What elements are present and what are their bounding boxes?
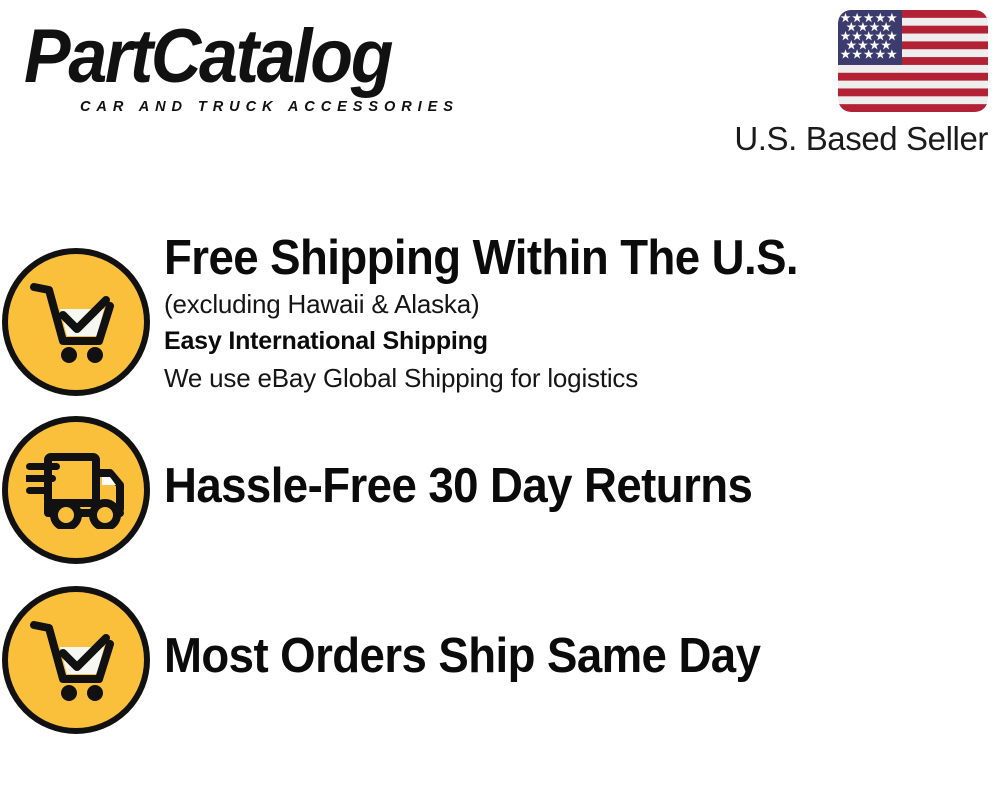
badge-circle-free-shipping xyxy=(2,248,150,396)
feature-row: Hassle-Free 30 Day Returns xyxy=(0,416,1000,564)
feature-icon-wrap xyxy=(0,416,152,564)
page-header: PartCatalog CAR AND TRUCK ACCESSORIES xyxy=(0,0,1000,170)
brand-tagline: CAR AND TRUCK ACCESSORIES xyxy=(80,98,459,115)
feature-row: Most Orders Ship Same Day xyxy=(0,586,1000,734)
feature-sub-bold: Easy International Shipping xyxy=(164,322,1000,360)
badge-circle-returns xyxy=(2,416,150,564)
feature-text: Free Shipping Within The U.S. (excluding… xyxy=(152,230,1000,396)
feature-sub-detail: We use eBay Global Shipping for logistic… xyxy=(164,360,1000,396)
feature-text: Most Orders Ship Same Day xyxy=(152,586,1000,684)
shopping-cart-check-icon xyxy=(30,279,122,365)
feature-row: Free Shipping Within The U.S. (excluding… xyxy=(0,230,1000,396)
feature-headline: Free Shipping Within The U.S. xyxy=(164,230,941,286)
feature-list: Free Shipping Within The U.S. (excluding… xyxy=(0,230,1000,734)
badge-circle-same-day xyxy=(2,586,150,734)
delivery-truck-icon xyxy=(26,451,126,529)
brand-wordmark: PartCatalog xyxy=(24,18,456,96)
feature-text: Hassle-Free 30 Day Returns xyxy=(152,416,1000,514)
feature-icon-wrap xyxy=(0,230,152,396)
shopping-cart-check-icon xyxy=(30,617,122,703)
feature-headline: Most Orders Ship Same Day xyxy=(164,628,941,684)
us-flag-icon xyxy=(838,10,988,112)
feature-icon-wrap xyxy=(0,586,152,734)
feature-headline: Hassle-Free 30 Day Returns xyxy=(164,458,941,514)
brand-logo[interactable]: PartCatalog CAR AND TRUCK ACCESSORIES xyxy=(24,18,494,113)
feature-subline: (excluding Hawaii & Alaska) xyxy=(164,286,1000,322)
us-based-seller-badge: U.S. Based Seller xyxy=(718,10,988,158)
us-based-seller-label: U.S. Based Seller xyxy=(718,120,988,158)
